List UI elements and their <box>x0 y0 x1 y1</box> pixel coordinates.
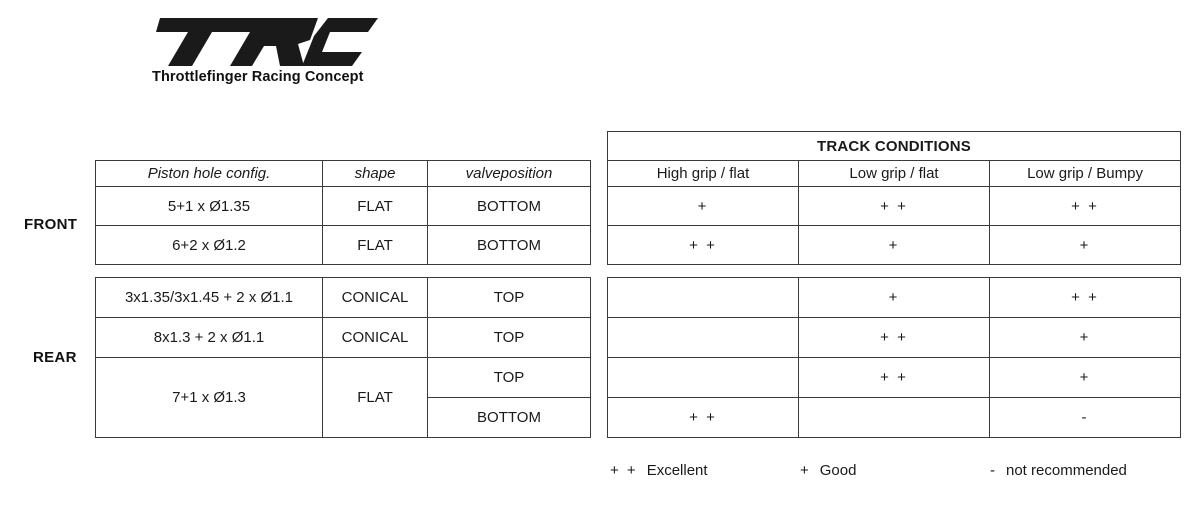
rating-cell <box>608 358 799 398</box>
legend-symbol: + <box>800 462 811 479</box>
rating-cell: + <box>608 187 799 226</box>
table-row: + + + <box>608 358 1181 398</box>
rating-cell: + + <box>799 187 990 226</box>
rating-cell: + + <box>608 226 799 265</box>
column-header-piston: Piston hole config. <box>96 161 323 187</box>
rating-cell <box>799 398 990 438</box>
rating-cell: - <box>990 398 1181 438</box>
table-row: + + + <box>608 318 1181 358</box>
track-conditions-table-rear: + + + + + + + + + + + - <box>607 277 1181 438</box>
table-header-row: High grip / flat Low grip / flat Low gri… <box>608 161 1181 187</box>
rating-cell: + + <box>990 187 1181 226</box>
cell-piston: 8x1.3 + 2 x Ø1.1 <box>96 318 323 358</box>
column-header-valveposition: valveposition <box>428 161 591 187</box>
rating-cell <box>608 278 799 318</box>
column-header-high-grip-flat: High grip / flat <box>608 161 799 187</box>
cell-valveposition: BOTTOM <box>428 226 591 265</box>
brand-logo: Throttlefinger Racing Concept <box>152 16 392 85</box>
column-header-low-grip-bumpy: Low grip / Bumpy <box>990 161 1181 187</box>
cell-valveposition: TOP <box>428 278 591 318</box>
table-row: 5+1 x Ø1.35 FLAT BOTTOM <box>96 187 591 226</box>
table-row: + + + + <box>608 226 1181 265</box>
column-header-low-grip-flat: Low grip / flat <box>799 161 990 187</box>
section-label-front: FRONT <box>24 216 77 233</box>
trc-logo-icon <box>152 16 380 68</box>
cell-shape: FLAT <box>323 226 428 265</box>
cell-valveposition: TOP <box>428 318 591 358</box>
legend-label: not recommended <box>1006 462 1127 479</box>
legend-symbol: + + <box>610 462 638 479</box>
cell-valveposition: BOTTOM <box>428 187 591 226</box>
cell-piston: 3x1.35/3x1.45 + 2 x Ø1.1 <box>96 278 323 318</box>
table-header-row: Piston hole config. shape valveposition <box>96 161 591 187</box>
cell-piston: 5+1 x Ø1.35 <box>96 187 323 226</box>
cell-piston: 7+1 x Ø1.3 <box>96 358 323 438</box>
cell-shape: FLAT <box>323 187 428 226</box>
table-row: 3x1.35/3x1.45 + 2 x Ø1.1 CONICAL TOP <box>96 278 591 318</box>
group-header-track-conditions: TRACK CONDITIONS <box>608 132 1181 161</box>
rating-cell: + + <box>608 398 799 438</box>
spec-table-front: Piston hole config. shape valveposition … <box>95 160 591 265</box>
rating-cell: + + <box>799 318 990 358</box>
table-row: 6+2 x Ø1.2 FLAT BOTTOM <box>96 226 591 265</box>
rating-cell: + <box>990 358 1181 398</box>
table-row: + + - <box>608 398 1181 438</box>
brand-tagline: Throttlefinger Racing Concept <box>152 69 392 85</box>
rating-cell <box>608 318 799 358</box>
rating-cell: + <box>990 318 1181 358</box>
table-row: + + + <box>608 278 1181 318</box>
cell-shape: CONICAL <box>323 318 428 358</box>
legend-item-not-recommended: -not recommended <box>990 462 1127 479</box>
table-row: + + + + + <box>608 187 1181 226</box>
table-group-header-row: TRACK CONDITIONS <box>608 132 1181 161</box>
column-header-shape: shape <box>323 161 428 187</box>
rating-cell: + <box>990 226 1181 265</box>
cell-valveposition: TOP <box>428 358 591 398</box>
cell-shape: FLAT <box>323 358 428 438</box>
track-conditions-table-front: TRACK CONDITIONS High grip / flat Low gr… <box>607 131 1181 265</box>
legend-item-excellent: + +Excellent <box>610 462 708 479</box>
cell-valveposition: BOTTOM <box>428 398 591 438</box>
rating-cell: + <box>799 226 990 265</box>
legend-label: Excellent <box>647 462 708 479</box>
cell-piston: 6+2 x Ø1.2 <box>96 226 323 265</box>
legend: + +Excellent +Good -not recommended <box>607 462 1187 488</box>
legend-symbol: - <box>990 462 997 479</box>
legend-label: Good <box>820 462 857 479</box>
legend-item-good: +Good <box>800 462 856 479</box>
rating-cell: + + <box>799 358 990 398</box>
table-row: 7+1 x Ø1.3 FLAT TOP <box>96 358 591 398</box>
section-label-rear: REAR <box>33 349 77 366</box>
spec-table-rear: 3x1.35/3x1.45 + 2 x Ø1.1 CONICAL TOP 8x1… <box>95 277 591 438</box>
rating-cell: + <box>799 278 990 318</box>
table-row: 8x1.3 + 2 x Ø1.1 CONICAL TOP <box>96 318 591 358</box>
cell-shape: CONICAL <box>323 278 428 318</box>
rating-cell: + + <box>990 278 1181 318</box>
